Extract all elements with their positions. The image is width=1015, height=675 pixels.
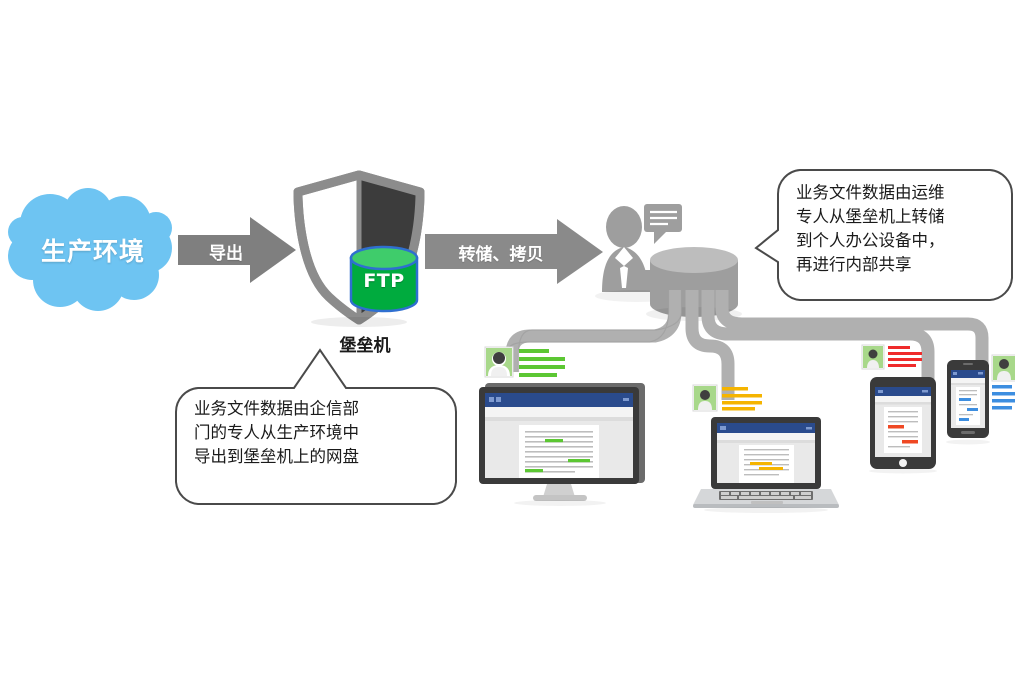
tablet-shape: [862, 345, 952, 473]
contact-card-yellow: [693, 385, 762, 411]
callout-internal-share[interactable]: 业务文件数据由运维 专人从堡垒机上转储 到个人办公设备中， 再进行内部共享: [772, 166, 1012, 308]
contact-card-blue: [992, 355, 1015, 410]
contact-card-red: [862, 345, 922, 369]
device-desktop-monitor[interactable]: [475, 345, 655, 505]
device-phone[interactable]: [945, 352, 1015, 447]
arrow-export[interactable]: 导出: [178, 215, 298, 285]
laptop-shape: [693, 385, 843, 513]
arrow-export-label: 导出: [186, 239, 266, 264]
callout-bastion-export[interactable]: 业务文件数据由企信部 门的专人从生产环境中 导出到堡垒机上的网盘: [172, 378, 457, 510]
diagram-canvas: 生产环境 导出 FTP: [0, 0, 1015, 675]
ftp-database-cylinder[interactable]: FTP: [348, 246, 420, 316]
cloud-label: 生产环境: [8, 232, 178, 268]
device-tablet[interactable]: [862, 345, 947, 470]
callout-left-text: 业务文件数据由企信部 门的专人从生产环境中 导出到堡垒机上的网盘: [194, 397, 438, 469]
contact-card-green: [485, 347, 565, 377]
callout-right-text: 业务文件数据由运维 专人从堡垒机上转储 到个人办公设备中， 再进行内部共享: [796, 181, 996, 277]
phone-shape: [945, 352, 1015, 452]
production-environment-cloud[interactable]: 生产环境: [8, 190, 178, 305]
ftp-label: FTP: [348, 270, 420, 292]
desktop-shape: [475, 345, 655, 505]
arrow-transfer-label: 转储、拷贝: [437, 240, 565, 265]
arrow-transfer-copy[interactable]: 转储、拷贝: [425, 218, 605, 286]
device-laptop[interactable]: [693, 385, 843, 510]
